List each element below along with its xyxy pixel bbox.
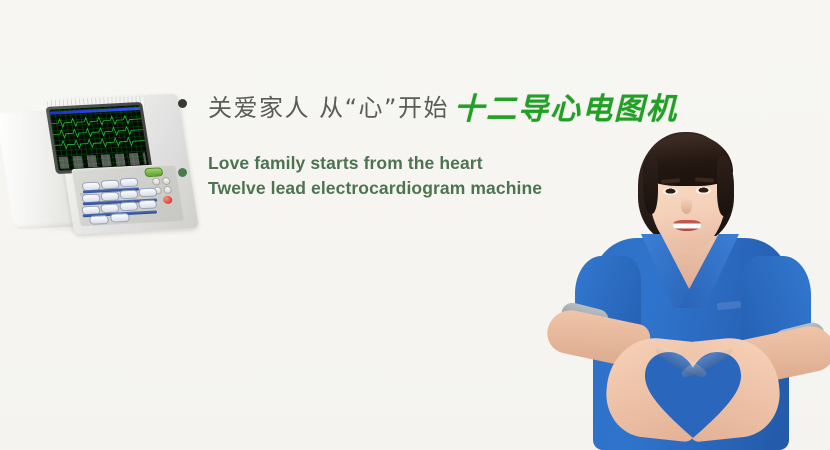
bullet-dark-icon xyxy=(178,99,187,108)
chinese-tagline: 关爱家人 从“心”开始 xyxy=(208,88,449,123)
nav-left-button[interactable] xyxy=(163,186,172,194)
eye-right xyxy=(696,187,711,194)
chinese-product-name: 十二导心电图机 xyxy=(454,84,678,128)
keypad-key[interactable] xyxy=(119,190,138,200)
product-banner: ECG 关爱家人 从“心”开始 十二导心电图机 Love family star… xyxy=(0,0,830,450)
english-line-2: Twelve lead electrocardiogram machine xyxy=(208,176,542,201)
device-keypad[interactable] xyxy=(71,164,185,227)
nose xyxy=(681,198,692,214)
nurse-photo xyxy=(545,130,830,450)
device-ecg-display xyxy=(49,105,149,171)
headline-row: 关爱家人 从“心”开始 十二导心电图机 xyxy=(178,88,698,132)
hair-side-left xyxy=(643,156,658,214)
smiling-mouth xyxy=(673,220,701,231)
keypad-key[interactable] xyxy=(138,200,157,210)
hair-side-right xyxy=(717,156,733,216)
keypad-key[interactable] xyxy=(110,213,130,223)
english-copy-block: Love family starts from the heart Twelve… xyxy=(208,151,542,201)
keypad-key[interactable] xyxy=(138,188,157,198)
ecg-machine-image: ECG xyxy=(2,92,192,242)
english-line-1: Love family starts from the heart xyxy=(208,151,542,176)
start-button[interactable] xyxy=(144,167,163,177)
nav-right-button[interactable] xyxy=(162,177,171,185)
stop-button[interactable] xyxy=(163,196,173,204)
keypad-key[interactable] xyxy=(89,215,109,225)
eye-left xyxy=(663,188,678,195)
ecg-waveform-traces xyxy=(50,110,147,158)
nav-up-button[interactable] xyxy=(152,177,161,185)
keypad-key[interactable] xyxy=(119,178,138,188)
bullet-green-icon xyxy=(178,168,187,177)
keypad-key[interactable] xyxy=(119,201,138,211)
